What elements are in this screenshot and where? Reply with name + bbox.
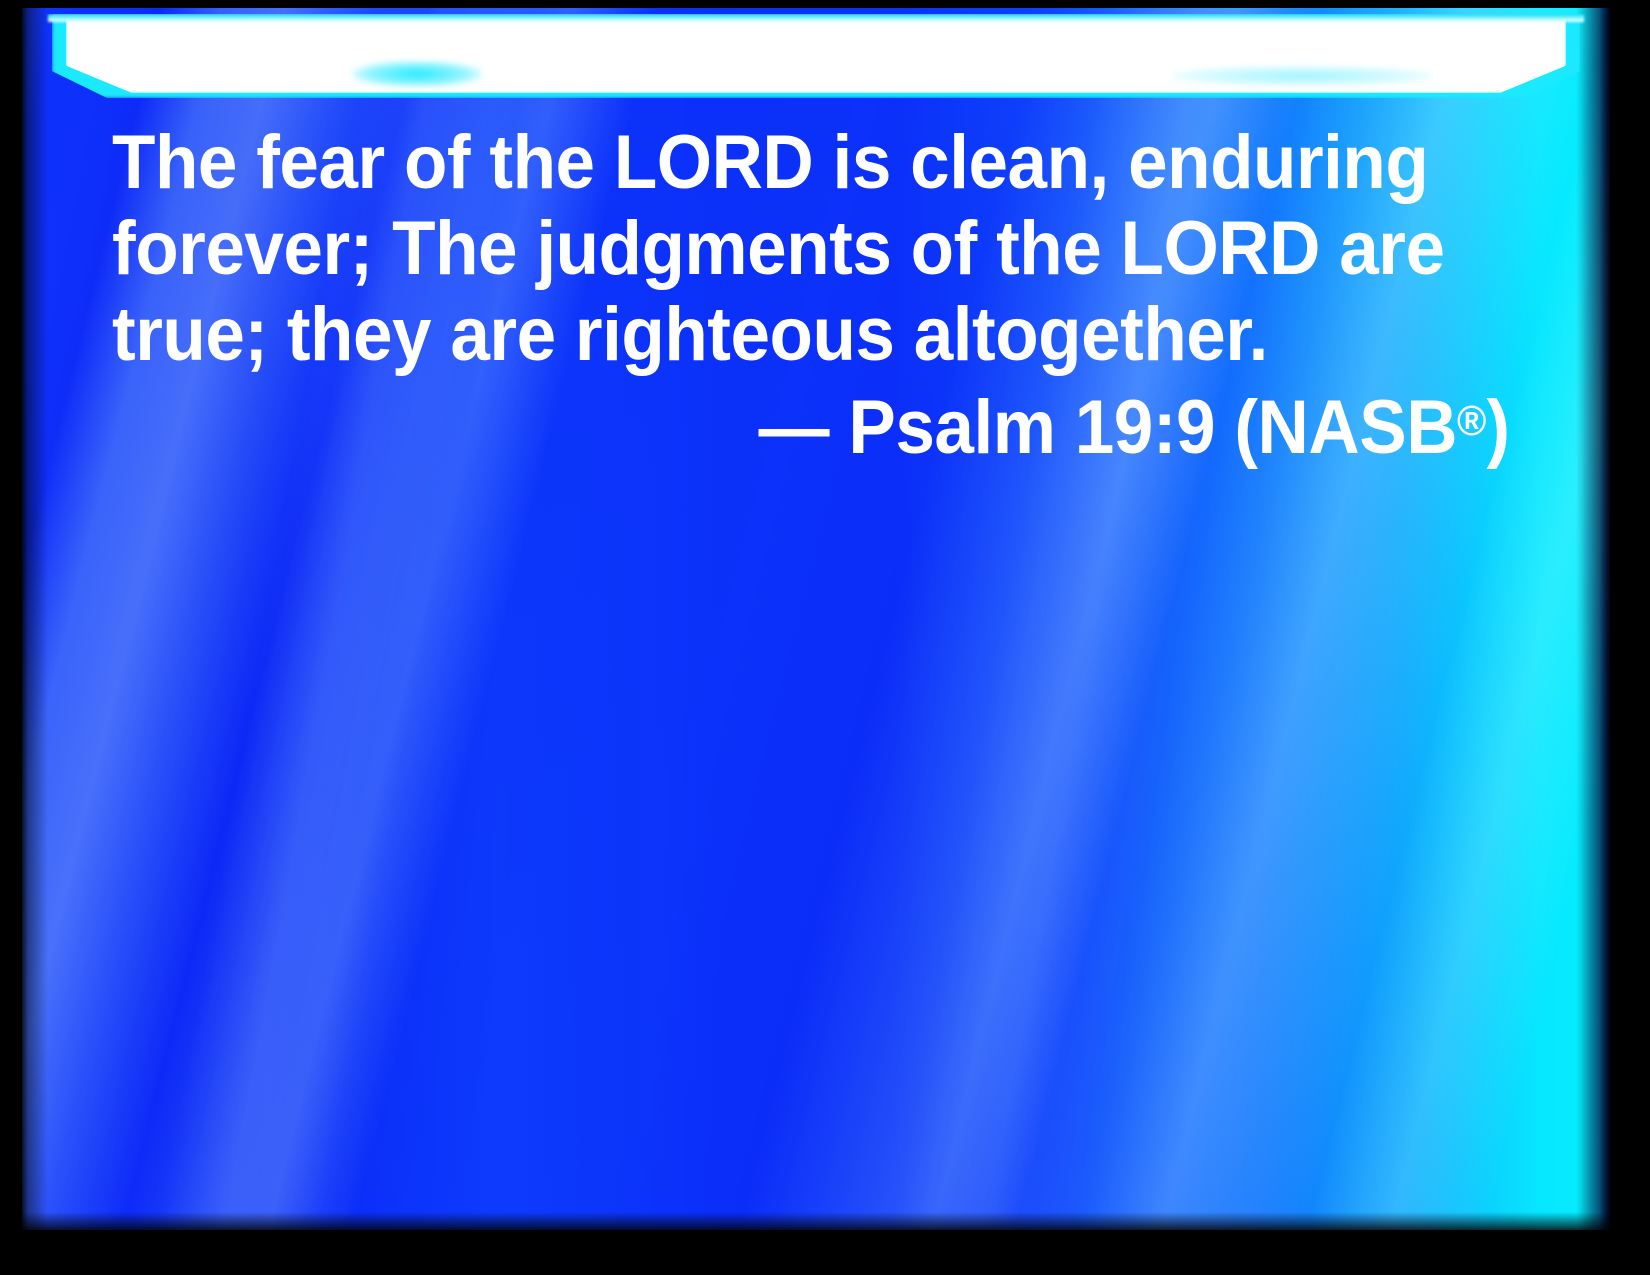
- citation-translation-open: (NASB: [1234, 385, 1457, 470]
- header-band: [22, 14, 1610, 98]
- verse-line-2: forever; The judgments of the LORD are: [112, 206, 1440, 292]
- slide-background: The fear of the LORD is clean, enduring …: [22, 8, 1610, 1230]
- verse-line-3: true; they are righteous altogether.: [112, 292, 1440, 378]
- verse-text-block: The fear of the LORD is clean, enduring …: [112, 120, 1532, 471]
- verse-citation: — Psalm 19:9 (NASB®): [204, 378, 1532, 471]
- verse-slide: The fear of the LORD is clean, enduring …: [0, 0, 1650, 1275]
- registered-trademark-icon: ®: [1457, 397, 1486, 445]
- citation-translation-close: ): [1486, 385, 1509, 470]
- verse-line-1: The fear of the LORD is clean, enduring: [112, 120, 1440, 206]
- citation-reference: Psalm 19:9: [848, 385, 1215, 470]
- citation-dash: —: [759, 385, 830, 470]
- header-band-cyan-highlight-right: [1172, 66, 1432, 86]
- header-band-top-edge: [48, 14, 1584, 22]
- header-band-cyan-highlight-left: [352, 61, 482, 87]
